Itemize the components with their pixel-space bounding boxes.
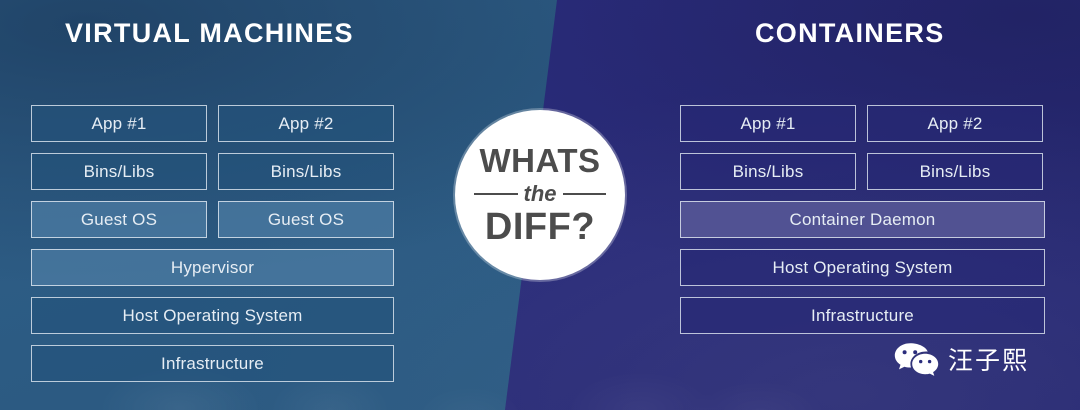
stack-row: Infrastructure [31,345,394,382]
layer-box: Bins/Libs [867,153,1043,190]
stack-row: Bins/LibsBins/Libs [31,153,394,190]
layer-box: Bins/Libs [31,153,207,190]
wechat-icon [893,342,939,376]
containers-stack: App #1App #2Bins/LibsBins/LibsContainer … [680,105,1045,332]
infographic-canvas: VIRTUAL MACHINES App #1App #2Bins/LibsBi… [0,0,1080,410]
stack-row: App #1App #2 [680,105,1045,142]
column-gap [207,105,218,142]
badge-line-the: the [518,183,563,205]
badge-rule-left [474,193,518,195]
column-gap [856,105,867,142]
layer-box: App #2 [218,105,394,142]
badge-rule-right [563,193,607,195]
wechat-watermark: 汪子熙 [893,341,1029,377]
stack-row: App #1App #2 [31,105,394,142]
stack-row: Hypervisor [31,249,394,286]
stack-row: Host Operating System [31,297,394,334]
layer-box: Host Operating System [680,249,1045,286]
stack-row: Container Daemon [680,201,1045,238]
virtual-machines-title: VIRTUAL MACHINES [65,18,354,49]
layer-box: Hypervisor [31,249,394,286]
layer-box: App #1 [680,105,856,142]
layer-box: Container Daemon [680,201,1045,238]
column-gap [207,153,218,190]
layer-box: Bins/Libs [680,153,856,190]
layer-box: Infrastructure [680,297,1045,334]
layer-box: Host Operating System [31,297,394,334]
containers-title: CONTAINERS [755,18,945,49]
badge-line-diff: DIFF? [485,208,595,246]
layer-box: App #2 [867,105,1043,142]
layer-box: App #1 [31,105,207,142]
layer-box: Bins/Libs [218,153,394,190]
layer-box: Infrastructure [31,345,394,382]
stack-row: Infrastructure [680,297,1045,334]
badge-line-whats: WHATS [479,144,600,177]
virtual-machines-stack: App #1App #2Bins/LibsBins/LibsGuest OSGu… [31,105,394,380]
column-gap [856,153,867,190]
whats-the-diff-badge: WHATS the DIFF? [455,110,625,280]
badge-line-the-wrapper: the [474,183,606,205]
stack-row: Guest OSGuest OS [31,201,394,238]
watermark-text: 汪子熙 [948,341,1029,377]
layer-box: Guest OS [31,201,207,238]
stack-row: Host Operating System [680,249,1045,286]
layer-box: Guest OS [218,201,394,238]
stack-row: Bins/LibsBins/Libs [680,153,1045,190]
column-gap [207,201,218,238]
